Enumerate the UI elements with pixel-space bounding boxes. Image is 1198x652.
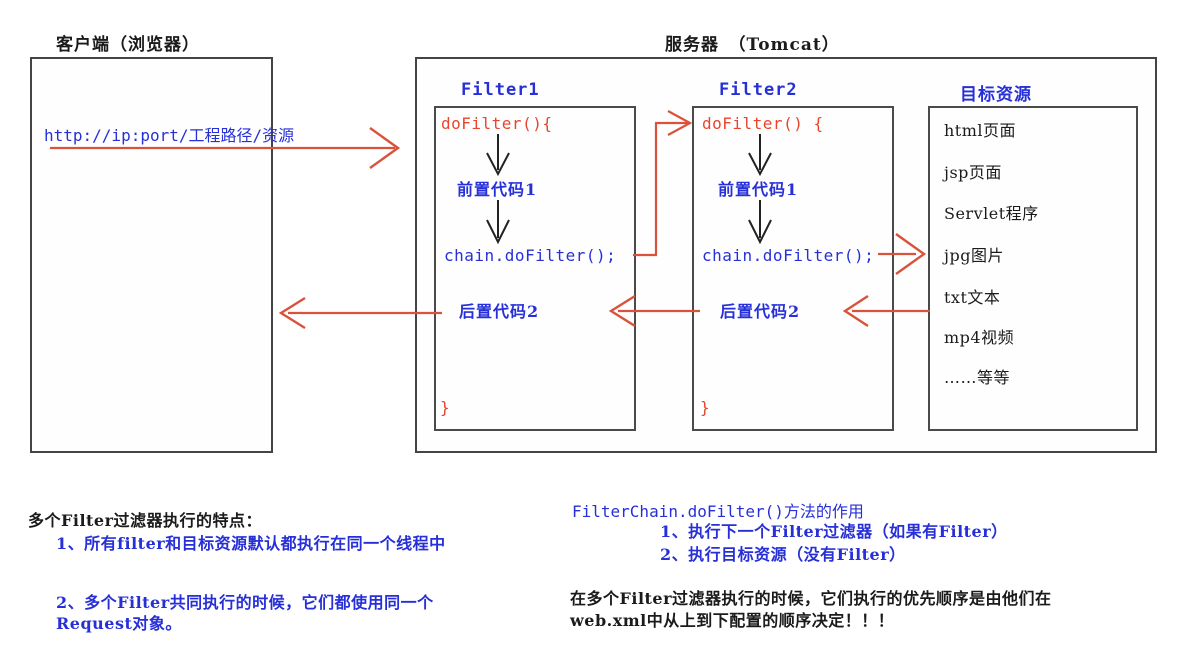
notes-left-item-1: 1、所有filter和目标资源默认都执行在同一个线程中 [56, 533, 456, 554]
filter1-flow-arrow-1-icon [487, 134, 509, 174]
diagram-canvas: 客户端（浏览器） http://ip:port/工程路径/资源 服务器 （Tom… [0, 0, 1198, 652]
notes-right-item-1: 1、执行下一个Filter过滤器（如果有Filter） [660, 521, 1160, 542]
chain-forward-arrow-f1-to-f2-icon [633, 111, 690, 255]
notes-right-paragraph: 在多个Filter过滤器执行的时候，它们执行的优先顺序是由他们在web.xml中… [570, 588, 1110, 632]
notes-left-item-2: 2、多个Filter共同执行的时候，它们都使用同一个Request对象。 [56, 592, 456, 634]
filter1-flow-arrow-2-icon [487, 200, 509, 242]
filter2-flow-arrow-1-icon [749, 134, 771, 174]
notes-left-heading: 多个Filter过滤器执行的特点： [28, 507, 262, 531]
notes-right-heading: FilterChain.doFilter()方法的作用 [572, 498, 864, 522]
notes-right-item-2: 2、执行目标资源（没有Filter） [660, 544, 1160, 565]
return-arrow-f2-to-f1-icon [611, 296, 700, 326]
return-arrow-resource-to-f2-icon [845, 296, 930, 326]
filter2-flow-arrow-2-icon [749, 200, 771, 242]
return-arrow-f1-to-client-icon [281, 298, 442, 328]
request-arrow-icon [50, 128, 398, 168]
chain-forward-arrow-f2-to-resource-icon [878, 234, 924, 274]
